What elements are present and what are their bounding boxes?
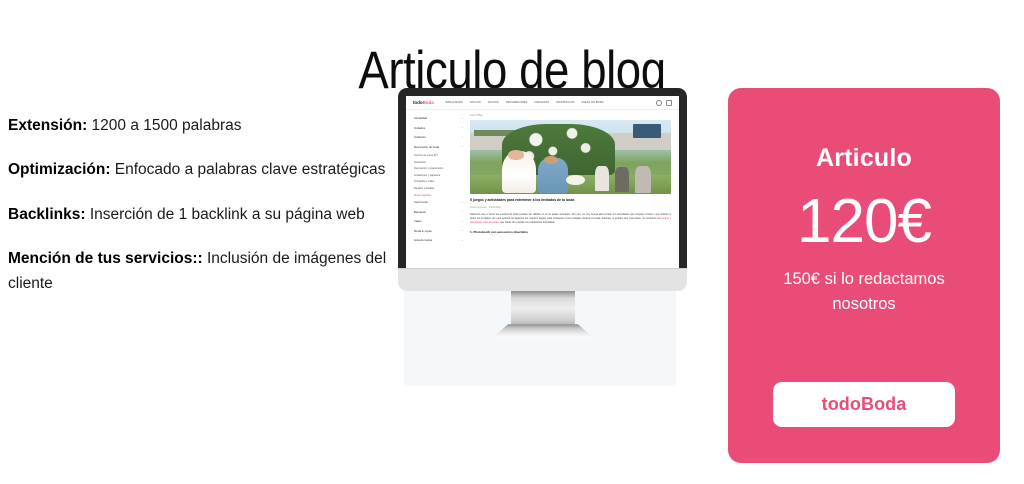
sidebar-item-label: Banquete — [414, 210, 426, 214]
chevron-down-icon: + — [462, 136, 463, 139]
monitor-bezel: todoBoda BANQUETES NOVIAS NOVIOS PROVEED… — [398, 88, 687, 268]
monitor-chin — [398, 268, 687, 291]
photo-guest — [635, 166, 651, 193]
sidebar-item-label: Ideas originales — [414, 194, 432, 197]
desktop-monitor-mockup: todoBoda BANQUETES NOVIAS NOVIOS PROVEED… — [398, 88, 690, 336]
article-paragraph: Sabemos que a veces los eventos de boda … — [470, 213, 671, 225]
feature-text: Enfocado a palabras clave estratégicas — [110, 161, 385, 178]
feature-label: Backlinks: — [8, 206, 86, 223]
chevron-down-icon: + — [462, 117, 463, 120]
site-nav-icons — [656, 100, 672, 106]
chevron-down-icon: + — [462, 220, 463, 223]
sidebar-item-label: Actualidad — [414, 116, 427, 120]
paragraph-part-2: que harán de tu boda una celebración ino… — [499, 221, 555, 224]
feature-item-extension: Extensión: 1200 a 1500 palabras — [8, 114, 390, 139]
monitor-stand-base — [492, 324, 594, 338]
sidebar-item-viajes[interactable]: Viajes+ — [414, 219, 463, 223]
photo-guest — [615, 167, 629, 191]
sidebar-item-label: Lista de bodas — [414, 238, 432, 242]
mock-website: todoBoda BANQUETES NOVIAS NOVIOS PROVEED… — [406, 96, 679, 268]
monitor-stand-neck — [511, 291, 575, 329]
sidebar-item-actualidad[interactable]: Actualidad+ — [414, 116, 463, 120]
chevron-down-icon: + — [462, 201, 463, 204]
site-logo[interactable]: todoBoda — [413, 100, 434, 105]
sidebar-item-decoracion-y-organizacion[interactable]: Decoración y organización — [414, 167, 463, 170]
paragraph-part-1: Sabemos que a veces los eventos de boda … — [470, 213, 671, 220]
article-meta: Ideas originales · 05/03/2024 — [470, 206, 671, 209]
mock-site-article: Inicio / Blog — [468, 110, 679, 268]
nav-link-novios[interactable]: NOVIOS — [488, 101, 499, 104]
sidebar-item-invitaciones-y-papeleria[interactable]: Invitaciones y papelería — [414, 174, 463, 177]
mock-site-sidebar: Actualidad+ Invitados+ Invitación+ Decor… — [406, 110, 468, 268]
site-nav-links: BANQUETES NOVIAS NOVIOS PROVEEDORES ORGA… — [446, 101, 650, 104]
sidebar-item-decoracion-de-boda[interactable]: Decoración de boda+ — [414, 145, 463, 149]
chevron-down-icon: + — [462, 229, 463, 232]
search-icon[interactable] — [656, 100, 662, 106]
sidebar-item-label: Fotografía y vídeo — [414, 180, 434, 183]
feature-label: Mención de tus servicios:: — [8, 250, 203, 267]
price-card: Articulo 120€ 150€ si lo redactamos noso… — [728, 88, 1000, 463]
sidebar-item-regalos-y-detalles[interactable]: Regalos y detalles — [414, 187, 463, 190]
sidebar-item-label: Moda & Joyas — [414, 229, 432, 233]
sidebar-item-ideas-originales[interactable]: Ideas originales — [414, 194, 463, 197]
user-icon[interactable] — [666, 100, 672, 106]
mock-site-navbar: todoBoda BANQUETES NOVIAS NOVIOS PROVEED… — [406, 96, 679, 110]
site-logo-accent: Boda — [423, 100, 434, 105]
photo-bouquet — [566, 175, 584, 185]
sidebar-item-label: Decoración de boda — [414, 145, 439, 149]
sidebar-item-label: Viajes — [414, 219, 422, 223]
chevron-down-icon: + — [462, 145, 463, 148]
sidebar-item-label: Invitaciones y papelería — [414, 174, 440, 177]
photo-window — [633, 124, 661, 139]
nav-link-organiza[interactable]: ORGANIZA — [534, 101, 549, 104]
breadcrumb[interactable]: Inicio / Blog — [470, 114, 671, 117]
nav-link-novias[interactable]: NOVIAS — [470, 101, 481, 104]
chevron-down-icon: + — [462, 210, 463, 213]
mock-site-body: Actualidad+ Invitados+ Invitación+ Decor… — [406, 110, 679, 268]
photo-guest — [595, 166, 609, 191]
monitor-screen: todoBoda BANQUETES NOVIAS NOVIOS PROVEED… — [406, 96, 679, 268]
sidebar-item-centros-de-mesa-diy[interactable]: Centros de mesa DIY — [414, 154, 463, 157]
sidebar-item-label: Invitación — [414, 135, 426, 139]
sidebar-item-invitados[interactable]: Invitados+ — [414, 126, 463, 130]
nav-link-inspiracion[interactable]: INSPIRACIÓN — [556, 101, 575, 104]
sidebar-item-label: Invitados — [414, 126, 425, 130]
sidebar-item-inspiracion[interactable]: Inspiración — [414, 161, 463, 164]
todoboda-cta-button[interactable]: todoBoda — [773, 382, 955, 427]
sidebar-item-lista-de-bodas[interactable]: Lista de bodas+ — [414, 238, 463, 242]
nav-link-proveedores[interactable]: PROVEEDORES — [506, 101, 528, 104]
feature-item-optimizacion: Optimización: Enfocado a palabras clave … — [8, 158, 390, 183]
price-note: 150€ si lo redactamos nosotros — [750, 267, 978, 317]
article-title: 5 juegos y actividades para entretener a… — [470, 198, 671, 203]
chevron-down-icon: + — [462, 126, 463, 129]
feature-text: Inserción de 1 backlink a su página web — [86, 206, 365, 223]
sidebar-item-label: Inspiración — [414, 161, 426, 164]
chevron-down-icon: + — [462, 239, 463, 242]
article-subheading: 1. Photobooth con accesorios divertidos — [470, 230, 671, 234]
sidebar-item-fotografia-y-video[interactable]: Fotografía y vídeo — [414, 180, 463, 183]
feature-text: 1200 a 1500 palabras — [87, 117, 241, 134]
nav-link-ideas-de-boda[interactable]: IDEAS DE BODA — [582, 101, 604, 104]
price-plan-name: Articulo — [750, 143, 978, 173]
feature-label: Extensión: — [8, 117, 87, 134]
sidebar-item-moda-joyas[interactable]: Moda & Joyas+ — [414, 229, 463, 233]
sidebar-item-invitacion[interactable]: Invitación+ — [414, 135, 463, 139]
sidebar-item-label: Regalos y detalles — [414, 187, 434, 190]
sidebar-item-label: Centros de mesa DIY — [414, 154, 438, 157]
feature-item-mencion: Mención de tus servicios:: Inclusión de … — [8, 247, 390, 296]
feature-item-backlinks: Backlinks: Inserción de 1 backlink a su … — [8, 203, 390, 228]
feature-list: Extensión: 1200 a 1500 palabras Optimiza… — [8, 98, 390, 296]
feature-label: Optimización: — [8, 161, 110, 178]
sidebar-item-label: Ceremonia — [414, 200, 428, 204]
sidebar-item-banquete[interactable]: Banquete+ — [414, 210, 463, 214]
price-amount: 120€ — [750, 185, 978, 259]
article-hero-photo — [470, 120, 671, 194]
sidebar-item-label: Decoración y organización — [414, 167, 443, 170]
site-logo-text: todo — [413, 100, 423, 105]
sidebar-item-ceremonia[interactable]: Ceremonia+ — [414, 200, 463, 204]
nav-link-banquetes[interactable]: BANQUETES — [446, 101, 463, 104]
